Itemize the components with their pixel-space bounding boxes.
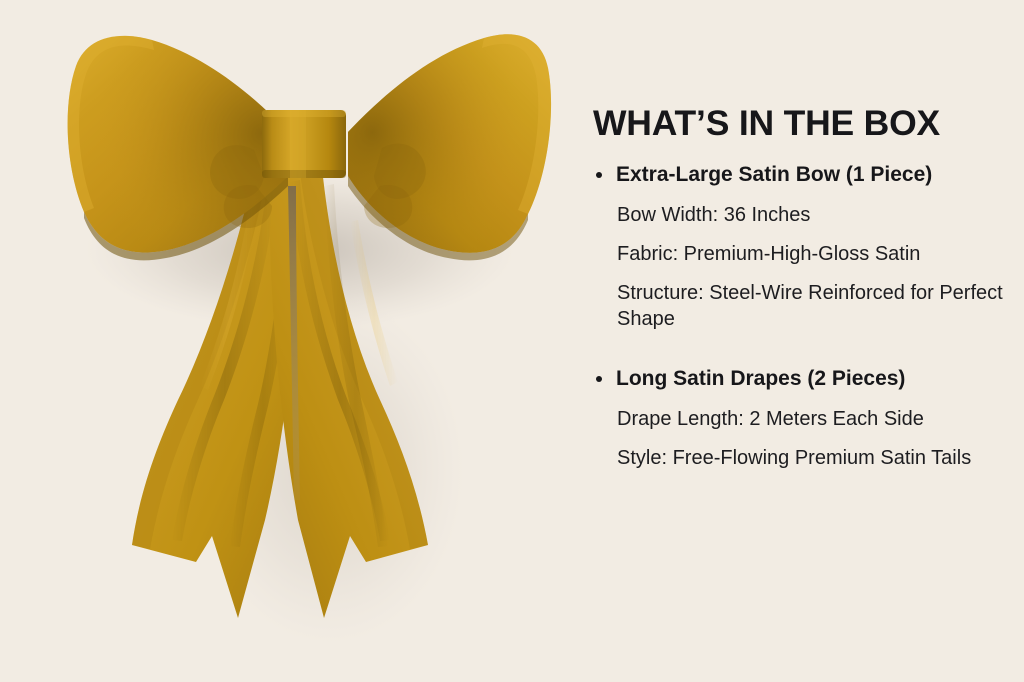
spec-detail-line: Bow Width: 36 Inches — [591, 202, 1024, 228]
spec-detail-line: Drape Length: 2 Meters Each Side — [591, 406, 1024, 432]
whats-in-the-box-panel: WHAT’S IN THE BOX Extra-Large Satin Bow … — [591, 0, 1024, 682]
product-image-gold-satin-bow — [0, 0, 570, 682]
spec-group-heading-text: Long Satin Drapes (2 Pieces) — [616, 367, 905, 390]
list-item: Extra-Large Satin Bow (1 Piece) Bow Widt… — [591, 161, 1024, 332]
page-title: WHAT’S IN THE BOX — [593, 103, 940, 144]
spec-list: Extra-Large Satin Bow (1 Piece) Bow Widt… — [591, 161, 1024, 471]
list-item: Long Satin Drapes (2 Pieces) Drape Lengt… — [591, 365, 1024, 471]
spec-detail-line: Structure: Steel-Wire Reinforced for Per… — [591, 280, 1024, 332]
spec-detail-line: Style: Free-Flowing Premium Satin Tails — [591, 445, 1024, 471]
spec-group-heading: Long Satin Drapes (2 Pieces) — [591, 365, 1024, 393]
spec-group-heading-text: Extra-Large Satin Bow (1 Piece) — [616, 163, 932, 186]
infographic-canvas: WHAT’S IN THE BOX Extra-Large Satin Bow … — [0, 0, 1024, 682]
spec-group-heading: Extra-Large Satin Bow (1 Piece) — [591, 161, 1024, 189]
bullet-icon — [596, 172, 602, 178]
spec-detail-line: Fabric: Premium-High-Gloss Satin — [591, 241, 1024, 267]
knot-sheen — [290, 110, 306, 178]
bullet-icon — [596, 376, 602, 382]
